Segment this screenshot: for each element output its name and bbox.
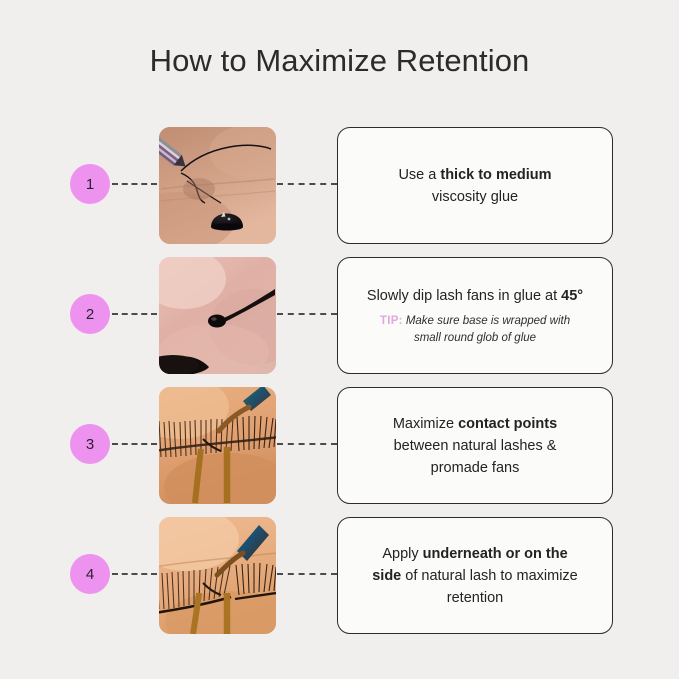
step-card-line: viscosity glue [432, 186, 518, 208]
connector-photo-to-card-3 [277, 443, 337, 445]
step-photo-3 [159, 387, 276, 504]
step-card-line: Use a thick to medium [398, 164, 551, 186]
steps-list: 1 [0, 127, 679, 647]
connector-photo-to-card-4 [277, 573, 337, 575]
step-number-2: 2 [70, 294, 110, 334]
step-number-1: 1 [70, 164, 110, 204]
card-text-pre: promade fans [431, 460, 520, 476]
step-row-1: 1 [0, 127, 679, 257]
card-text-bold: side [372, 568, 401, 584]
step-tip-line-2: small round glob of glue [414, 330, 536, 347]
connector-photo-to-card-1 [277, 183, 337, 185]
step-card-line: promade fans [431, 457, 520, 479]
step-card-line: retention [447, 587, 503, 609]
step-card-3: Maximize contact points between natural … [337, 387, 613, 504]
photo-illustration-lash-fan-dip [159, 257, 276, 374]
card-text-pre: viscosity glue [432, 189, 518, 205]
step-card-line: side of natural lash to maximize [372, 565, 578, 587]
card-text-post: of natural lash to maximize [401, 568, 578, 584]
step-row-3: 3 [0, 387, 679, 517]
photo-illustration-underneath-application [159, 517, 276, 634]
step-card-4: Apply underneath or on the side of natur… [337, 517, 613, 634]
step-card-line: Apply underneath or on the [382, 543, 567, 565]
card-text-pre: Use a [398, 167, 440, 183]
card-text-bold: underneath or on the [423, 546, 568, 562]
step-number-4: 4 [70, 554, 110, 594]
connector-bubble-to-photo-2 [112, 313, 157, 315]
page-title: How to Maximize Retention [0, 43, 679, 79]
connector-photo-to-card-2 [277, 313, 337, 315]
connector-bubble-to-photo-3 [112, 443, 157, 445]
step-row-4: 4 [0, 517, 679, 647]
step-card-2: Slowly dip lash fans in glue at 45° TIP:… [337, 257, 613, 374]
step-card-line: Maximize contact points [393, 413, 557, 435]
card-text-pre: Slowly dip lash fans in glue at [367, 288, 561, 304]
card-text-pre: retention [447, 590, 503, 606]
card-text-pre: Maximize [393, 416, 458, 432]
step-photo-2 [159, 257, 276, 374]
card-text-pre: between natural lashes & [394, 438, 557, 454]
step-number-bubble-2: 2 [70, 294, 110, 334]
card-text-bold: 45° [561, 288, 583, 304]
tip-text: small round glob of glue [414, 332, 536, 344]
card-text-bold: contact points [458, 416, 557, 432]
step-tip-line-1: TIP:Make sure base is wrapped with [380, 313, 570, 330]
photo-illustration-glue-drop [159, 127, 276, 244]
step-card-line: Slowly dip lash fans in glue at 45° [367, 285, 583, 307]
step-photo-1 [159, 127, 276, 244]
step-number-bubble-4: 4 [70, 554, 110, 594]
step-card-1: Use a thick to medium viscosity glue [337, 127, 613, 244]
step-number-bubble-1: 1 [70, 164, 110, 204]
photo-illustration-contact-points [159, 387, 276, 504]
tip-text: Make sure base is wrapped with [406, 315, 570, 327]
connector-bubble-to-photo-4 [112, 573, 157, 575]
step-photo-4 [159, 517, 276, 634]
infographic-page: How to Maximize Retention 1 [0, 0, 679, 679]
connector-bubble-to-photo-1 [112, 183, 157, 185]
step-card-line: between natural lashes & [394, 435, 557, 457]
tip-label: TIP: [380, 315, 403, 327]
card-text-pre: Apply [382, 546, 422, 562]
step-number-3: 3 [70, 424, 110, 464]
step-row-2: 2 [0, 257, 679, 387]
step-number-bubble-3: 3 [70, 424, 110, 464]
card-text-bold: thick to medium [440, 167, 551, 183]
